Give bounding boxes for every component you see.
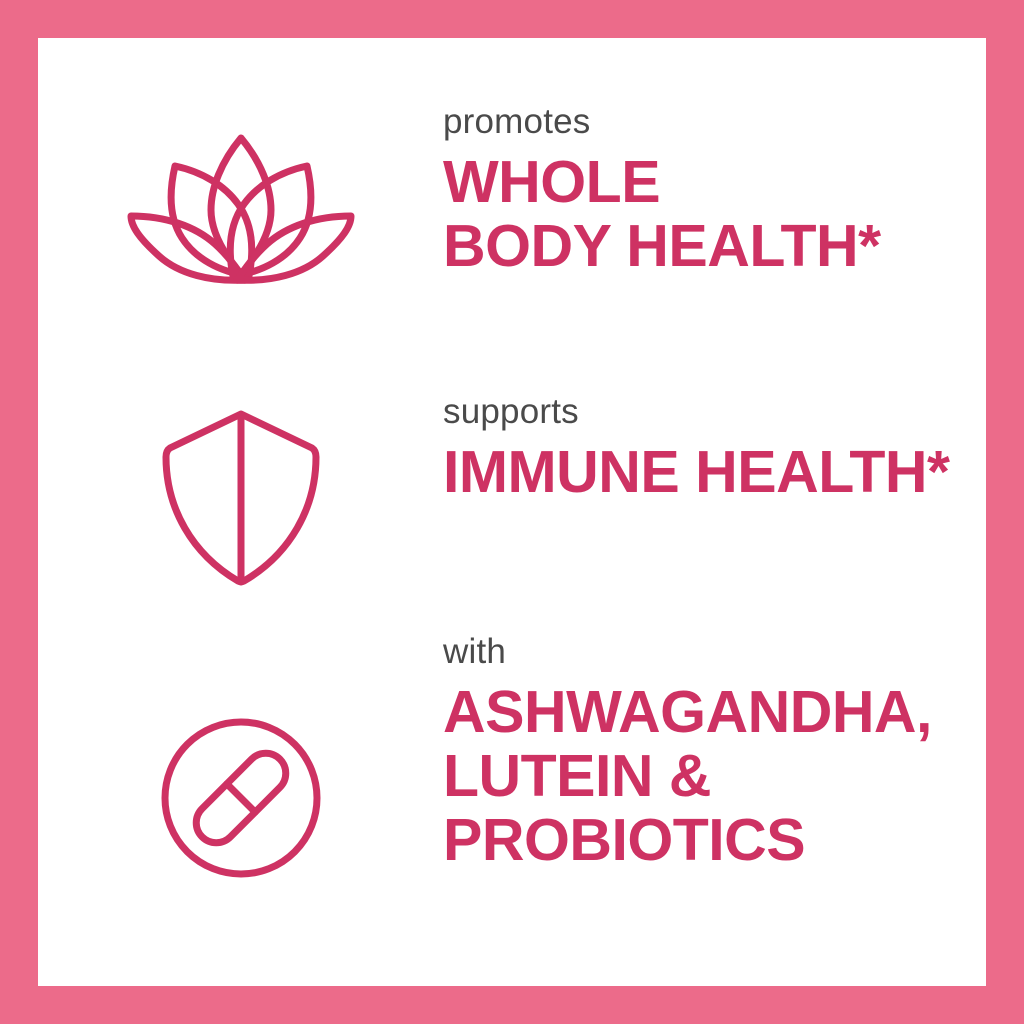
benefit-headline: ASHWAGANDHA, LUTEIN & PROBIOTICS <box>443 680 986 872</box>
benefit-headline: IMMUNE HEALTH* <box>443 440 986 504</box>
headline-line: ASHWAGANDHA, <box>443 680 986 744</box>
capsule-in-circle-icon <box>158 715 324 881</box>
benefit-icon-cell <box>38 390 443 588</box>
headline-line: IMMUNE HEALTH* <box>443 440 986 504</box>
benefit-row: with ASHWAGANDHA, LUTEIN & PROBIOTICS <box>38 630 986 881</box>
shield-icon <box>160 408 322 588</box>
lotus-flower-icon <box>125 130 357 288</box>
inner-panel: promotes WHOLE BODY HEALTH* supports <box>38 38 986 986</box>
benefit-icon-cell <box>38 100 443 288</box>
headline-line: BODY HEALTH* <box>443 214 986 278</box>
headline-line: WHOLE <box>443 150 986 214</box>
infographic-card: promotes WHOLE BODY HEALTH* supports <box>0 0 1024 1024</box>
benefit-text-cell: promotes WHOLE BODY HEALTH* <box>443 100 986 278</box>
benefit-text-cell: with ASHWAGANDHA, LUTEIN & PROBIOTICS <box>443 630 986 872</box>
benefit-eyebrow: promotes <box>443 100 986 144</box>
benefit-eyebrow: supports <box>443 390 986 434</box>
benefit-text-cell: supports IMMUNE HEALTH* <box>443 390 986 504</box>
benefit-row: promotes WHOLE BODY HEALTH* <box>38 100 986 288</box>
benefit-icon-cell <box>38 630 443 881</box>
benefit-row: supports IMMUNE HEALTH* <box>38 390 986 588</box>
benefit-headline: WHOLE BODY HEALTH* <box>443 150 986 278</box>
benefit-eyebrow: with <box>443 630 986 674</box>
headline-line: LUTEIN & <box>443 744 986 808</box>
headline-line: PROBIOTICS <box>443 808 986 872</box>
